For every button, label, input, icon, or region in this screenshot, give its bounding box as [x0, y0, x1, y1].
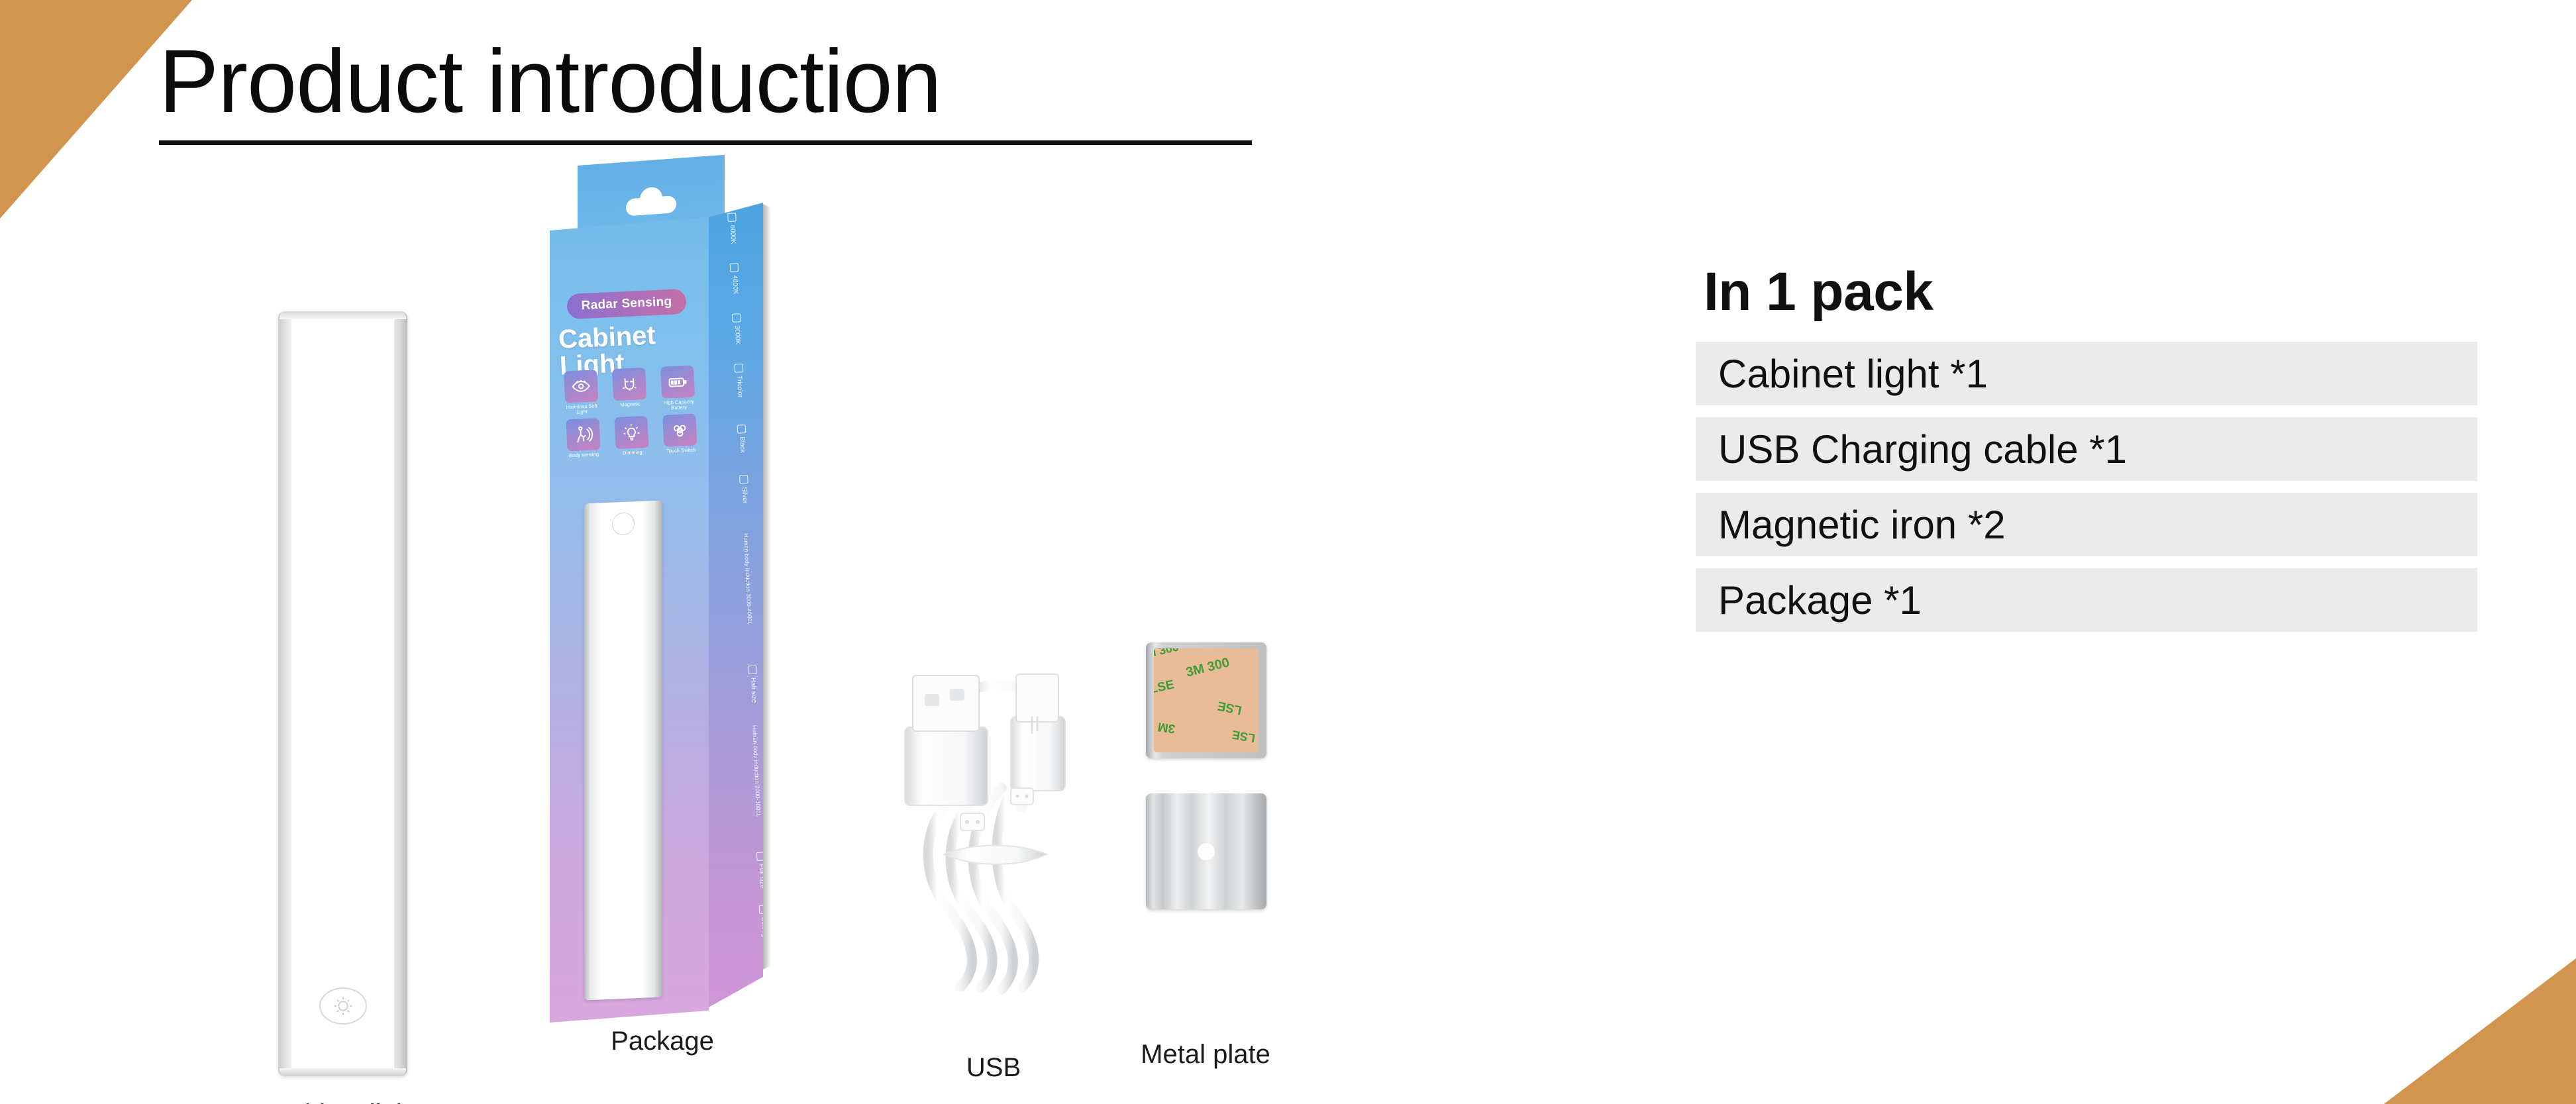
package-edge-shadow — [763, 204, 771, 999]
magnet-icon — [612, 368, 646, 401]
feature-body-sensing: Body sensing — [560, 418, 605, 459]
pack-list-item-label: Magnetic iron *2 — [1718, 502, 2006, 548]
gallery-item-package: 6000K 4000K 3000K Tricolor Black Silver … — [550, 166, 815, 1093]
touch-icon — [663, 413, 697, 446]
pack-list-item-usb-cable: USB Charging cable *1 — [1696, 417, 2477, 481]
package-spec-line-2: Human body induction 2000-3000L — [751, 725, 762, 817]
feature-label: Touch Switch — [666, 447, 696, 454]
option-checkbox-3000k: 3000K — [732, 313, 742, 344]
cabinet-light-diffuser — [291, 317, 394, 1071]
checkbox-icon — [727, 213, 737, 222]
micro-usb-connector-icon — [1011, 674, 1065, 791]
package-product-window — [584, 501, 662, 1001]
in-pack-panel: In 1 pack Cabinet light *1 USB Charging … — [1696, 265, 2477, 644]
checkbox-icon — [737, 425, 747, 434]
adhesive-pad-3m: 3M 300 LSE 3M LSE 3M 300 LSE — [1146, 642, 1266, 758]
title-underline — [159, 140, 1252, 145]
adhesive-mark: 3M — [1157, 719, 1176, 735]
battery-icon — [660, 366, 695, 399]
checkbox-icon — [734, 364, 743, 373]
gallery-item-usb: USB — [881, 656, 1106, 1093]
feature-label: High Capacity Battery — [658, 399, 700, 411]
option-checkbox-silver: Silver — [739, 475, 749, 504]
option-checkbox-6000k: 6000K — [727, 213, 737, 244]
eye-icon — [564, 370, 598, 403]
cabinet-light-bottom-edge — [280, 1068, 406, 1076]
checkbox-icon — [739, 475, 748, 484]
usb-a-connector-icon — [905, 676, 988, 805]
cabinet-light-top-edge — [280, 311, 406, 319]
checkbox-icon — [732, 313, 741, 323]
adhesive-mark: LSE — [1231, 727, 1256, 745]
feature-high-capacity-battery: High Capacity Battery — [656, 365, 701, 411]
gallery-item-metal-plate: 3M 300 LSE 3M LSE 3M 300 LSE Metal plate — [1133, 642, 1331, 1093]
adhesive-mark: 3M 300 — [1154, 648, 1180, 662]
pack-list-item-package: Package *1 — [1696, 568, 2477, 632]
package-side-panel: 6000K 4000K 3000K Tricolor Black Silver … — [709, 203, 763, 1007]
option-checkbox-black: Black — [737, 425, 747, 453]
feature-dimming: Dimming — [609, 415, 654, 456]
adhesive-mark: LSE — [1216, 697, 1243, 717]
package-front-panel: Radar Sensing Cabinet Light Harmless S — [550, 217, 709, 1023]
package-spec-line-1: Human body induction 3000-4000L — [743, 533, 753, 625]
usb-cable-illustration — [881, 656, 1106, 1027]
bulb-icon — [614, 416, 648, 449]
option-checkbox-4000k: 4000K — [730, 263, 740, 294]
caption-package: Package — [550, 1027, 775, 1056]
feature-label: Dimming — [623, 450, 643, 456]
page-title: Product introduction — [159, 36, 1252, 126]
feature-label: Body sensing — [569, 452, 599, 458]
checkbox-icon — [730, 263, 739, 272]
magnetic-metal-plate — [1146, 793, 1266, 909]
cabinet-light-bar — [278, 311, 407, 1076]
pack-list-item-magnetic-iron: Magnetic iron *2 — [1696, 493, 2477, 556]
pack-list-item-cabinet-light: Cabinet light *1 — [1696, 342, 2477, 405]
feature-touch-switch: Touch Switch — [658, 413, 703, 454]
walking-person-icon — [566, 418, 600, 451]
radar-sensing-badge-label: Radar Sensing — [581, 295, 672, 313]
feature-label: Magnetic — [620, 401, 641, 407]
corner-decoration-bottom-right — [2384, 958, 2576, 1104]
adhesive-mark: LSE — [1154, 677, 1176, 697]
caption-cabinet-light: Cabinet light — [238, 1099, 450, 1104]
euro-slot-hole-icon — [626, 195, 676, 217]
feature-label: Harmless Soft Light — [561, 403, 603, 416]
package-feature-grid: Harmless Soft Light Magnetic — [558, 365, 703, 458]
pack-list-item-label: Cabinet light *1 — [1718, 351, 1988, 397]
package-box-art: 6000K 4000K 3000K Tricolor Black Silver … — [550, 166, 775, 1040]
adhesive-mark: 3M 300 — [1184, 655, 1231, 680]
feature-harmless-soft-light: Harmless Soft Light — [558, 370, 603, 416]
option-checkbox-half-size: Half size — [748, 666, 758, 703]
product-gallery: Cabinet light 6000K 4000K 3000K Tricolor… — [159, 166, 1490, 1066]
caption-usb: USB — [881, 1053, 1106, 1083]
feature-magnetic: Magnetic — [607, 368, 652, 414]
pack-list-item-label: Package *1 — [1718, 577, 1922, 623]
pack-list-item-label: USB Charging cable *1 — [1718, 427, 2127, 472]
panel-heading: In 1 pack — [1704, 265, 2477, 319]
power-button-icon — [319, 987, 367, 1025]
title-block: Product introduction — [159, 36, 1252, 145]
checkbox-icon — [748, 666, 757, 675]
caption-metal-plate: Metal plate — [1133, 1040, 1278, 1070]
option-checkbox-tricolor: Tricolor — [734, 364, 744, 398]
adhesive-backing-paper: 3M 300 LSE 3M LSE 3M 300 LSE — [1154, 648, 1259, 752]
slide-canvas: Product introduction Cabinet light — [0, 0, 2576, 1104]
radar-sensing-badge: Radar Sensing — [566, 289, 687, 319]
gallery-item-cabinet-light: Cabinet light — [238, 238, 450, 1093]
